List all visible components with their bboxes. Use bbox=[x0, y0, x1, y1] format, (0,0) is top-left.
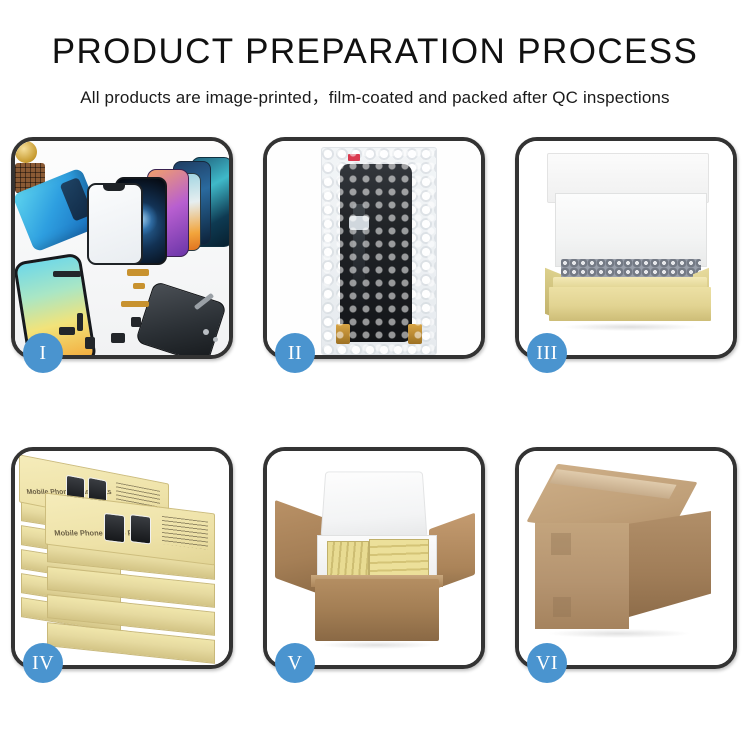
chip-part-2 bbox=[77, 313, 83, 331]
step-badge-2: II bbox=[275, 333, 315, 373]
carton-front-face bbox=[535, 523, 629, 629]
step-badge-3: III bbox=[527, 333, 567, 373]
carton-handle-tab-lower bbox=[553, 597, 571, 617]
screw-part-2 bbox=[213, 337, 218, 342]
lcd-gold-tab-right bbox=[408, 324, 422, 344]
panel-image-carton-loading bbox=[267, 451, 481, 665]
flex-cable-1 bbox=[127, 269, 149, 276]
lcd-connector bbox=[349, 216, 369, 230]
panel-image-boxed-stack: Mobile Phone Spare Parts Mobile Phone Sp… bbox=[15, 451, 229, 665]
scene-products-overview bbox=[15, 141, 229, 355]
chip-part-1 bbox=[53, 271, 81, 277]
panel-image-inner-box-packing bbox=[519, 141, 733, 355]
chip-part-6 bbox=[85, 337, 95, 349]
lcd-screen-assembly bbox=[340, 164, 412, 342]
page-subtitle: All products are image-printed，film-coat… bbox=[0, 83, 750, 108]
bubble-wrap-bag bbox=[321, 147, 437, 355]
sealed-carton-shadow bbox=[549, 629, 689, 638]
carton-front-panel bbox=[315, 579, 439, 641]
panel-boxed-stack[interactable]: Mobile Phone Spare Parts Mobile Phone Sp… bbox=[11, 447, 233, 669]
flex-cable-2 bbox=[121, 301, 149, 307]
panel-sealed-carton[interactable]: VI bbox=[515, 447, 737, 669]
box-lid-phone-img-4 bbox=[130, 514, 151, 545]
step-badge-1: I bbox=[23, 333, 63, 373]
foam-box-lid bbox=[321, 471, 428, 537]
carton-side-face bbox=[629, 511, 711, 617]
box-lid-phone-img-3 bbox=[104, 513, 125, 544]
flex-cable-3 bbox=[133, 283, 145, 289]
scene-inner-box-packing bbox=[519, 141, 733, 355]
foam-sheet bbox=[555, 193, 707, 267]
step-badge-6: VI bbox=[527, 643, 567, 683]
panel-inner-box-packing[interactable]: III bbox=[515, 137, 737, 359]
scene-sealed-carton bbox=[519, 451, 733, 665]
page-header: PRODUCT PREPARATION PROCESS All products… bbox=[0, 0, 750, 108]
carton-shadow bbox=[321, 641, 433, 649]
step-badge-4: IV bbox=[23, 643, 63, 683]
box-lid-text-block-2 bbox=[162, 516, 208, 550]
chip-part-4 bbox=[131, 317, 141, 327]
qc-sticker bbox=[348, 154, 360, 161]
box-shadow bbox=[563, 323, 697, 331]
process-step-grid: I II bbox=[11, 137, 739, 669]
screen-glass-panel bbox=[87, 183, 143, 265]
scene-carton-loading bbox=[267, 451, 481, 665]
scene-boxed-stack: Mobile Phone Spare Parts Mobile Phone Sp… bbox=[15, 451, 229, 665]
chip-part-3 bbox=[59, 327, 75, 335]
yellow-box-front bbox=[549, 287, 711, 321]
phone-back-housing bbox=[135, 281, 227, 355]
step-badge-5: V bbox=[275, 643, 315, 683]
screw-part-1 bbox=[203, 329, 209, 335]
carton-handle-tab-upper bbox=[551, 533, 571, 555]
panel-carton-loading[interactable]: V bbox=[263, 447, 485, 669]
scene-bubble-wrapped-screen bbox=[267, 141, 481, 355]
chip-part-5 bbox=[111, 333, 125, 343]
lcd-gold-tab-left bbox=[336, 324, 350, 344]
page-title: PRODUCT PREPARATION PROCESS bbox=[0, 34, 750, 69]
gold-component-icon bbox=[15, 141, 37, 163]
panel-image-products-overview bbox=[15, 141, 229, 355]
panel-products-overview[interactable]: I bbox=[11, 137, 233, 359]
panel-bubble-wrapped-screen[interactable]: II bbox=[263, 137, 485, 359]
panel-image-bubble-wrapped-screen bbox=[267, 141, 481, 355]
panel-image-sealed-carton bbox=[519, 451, 733, 665]
